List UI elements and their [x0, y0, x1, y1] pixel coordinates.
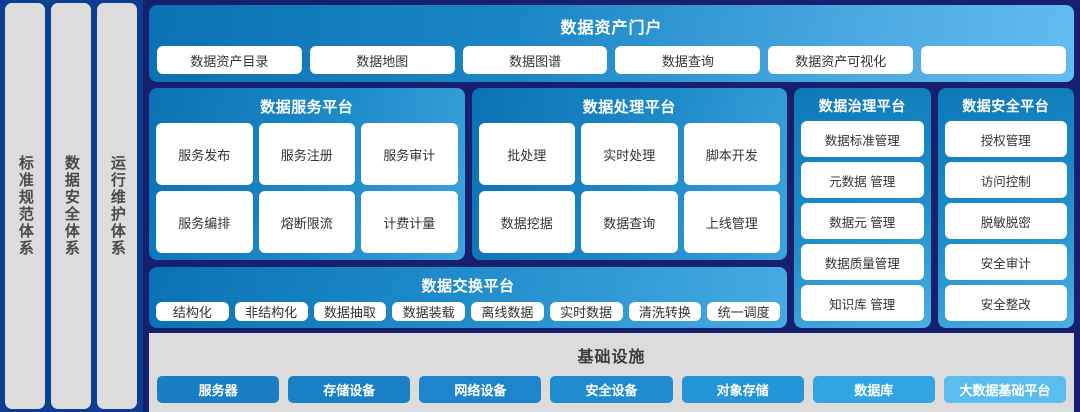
- chip-realtime-data[interactable]: 实时数据: [550, 302, 623, 321]
- portal-button-empty[interactable]: [921, 46, 1066, 74]
- chip-script-development[interactable]: 脚本开发: [684, 123, 781, 185]
- infra-button-server[interactable]: 服务器: [157, 376, 279, 403]
- chip-data-standard-management[interactable]: 数据标准管理: [801, 121, 924, 157]
- platforms-right-group: 数据治理平台 数据标准管理 元数据 管理 数据元 管理 数据质量管理 知识库 管…: [794, 88, 1074, 328]
- chip-offline-data[interactable]: 离线数据: [471, 302, 544, 321]
- portal-panel: 数据资产门户 数据资产目录 数据地图 数据图谱 数据查询 数据资产可视化: [149, 5, 1074, 82]
- chip-security-audit[interactable]: 安全审计: [945, 244, 1068, 280]
- infra-button-object-storage[interactable]: 对象存储: [682, 376, 804, 403]
- portal-button-map[interactable]: 数据地图: [310, 46, 455, 74]
- chip-structured[interactable]: 结构化: [156, 302, 229, 321]
- infrastructure-title: 基础设施: [157, 341, 1066, 376]
- panel-data-security-platform: 数据安全平台 授权管理 访问控制 脱敏脱密 安全审计 安全整改: [938, 88, 1075, 328]
- infra-button-database[interactable]: 数据库: [813, 376, 935, 403]
- sidebar-item-data-security[interactable]: 数据安全体系: [51, 3, 91, 409]
- chip-data-mining[interactable]: 数据挖据: [479, 191, 576, 253]
- chip-unified-scheduling[interactable]: 统一调度: [707, 302, 780, 321]
- panel-item-column: 数据标准管理 元数据 管理 数据元 管理 数据质量管理 知识库 管理: [801, 121, 924, 321]
- chip-data-extraction[interactable]: 数据抽取: [314, 302, 387, 321]
- panel-data-processing-platform: 数据处理平台 批处理 实时处理 脚本开发 数据挖据 数据查询 上线管理: [472, 88, 788, 260]
- panel-item-column: 授权管理 访问控制 脱敏脱密 安全审计 安全整改: [945, 121, 1068, 321]
- panel-item-grid: 服务发布 服务注册 服务审计 服务编排 熔断限流 计费计量: [156, 123, 458, 253]
- infra-button-network-device[interactable]: 网络设备: [419, 376, 541, 403]
- sidebar-item-operations[interactable]: 运行维护体系: [97, 3, 137, 409]
- panel-title: 数据服务平台: [156, 94, 458, 123]
- chip-metadata-management[interactable]: 元数据 管理: [801, 162, 924, 198]
- panel-title: 数据处理平台: [479, 94, 781, 123]
- chip-knowledge-base-management[interactable]: 知识库 管理: [801, 285, 924, 321]
- platforms-top-row: 数据服务平台 服务发布 服务注册 服务审计 服务编排 熔断限流 计费计量 数据处…: [149, 88, 787, 260]
- chip-launch-management[interactable]: 上线管理: [684, 191, 781, 253]
- infra-button-bigdata-platform[interactable]: 大数据基础平台: [944, 376, 1066, 403]
- panel-data-governance-platform: 数据治理平台 数据标准管理 元数据 管理 数据元 管理 数据质量管理 知识库 管…: [794, 88, 931, 328]
- platforms-band: 数据服务平台 服务发布 服务注册 服务审计 服务编排 熔断限流 计费计量 数据处…: [143, 88, 1080, 333]
- panel-data-exchange-platform: 数据交换平台 结构化 非结构化 数据抽取 数据装载 离线数据 实时数据 清洗转换…: [149, 267, 787, 328]
- infra-button-security-device[interactable]: 安全设备: [550, 376, 672, 403]
- sidebar-item-label: 数据安全体系: [63, 155, 79, 257]
- infrastructure-band: 基础设施 服务器 存储设备 网络设备 安全设备 对象存储 数据库 大数据基础平台: [143, 333, 1080, 412]
- sidebar-item-standards[interactable]: 标准规范体系: [5, 3, 45, 409]
- sidebar: 标准规范体系 数据安全体系 运行维护体系: [0, 0, 143, 412]
- chip-service-orchestration[interactable]: 服务编排: [156, 191, 253, 253]
- portal-button-visualization[interactable]: 数据资产可视化: [768, 46, 913, 74]
- chip-service-audit[interactable]: 服务审计: [361, 123, 458, 185]
- platforms-left-group: 数据服务平台 服务发布 服务注册 服务审计 服务编排 熔断限流 计费计量 数据处…: [149, 88, 787, 328]
- sidebar-item-label: 标准规范体系: [17, 155, 33, 257]
- panel-title: 数据交换平台: [156, 273, 780, 302]
- chip-billing-metering[interactable]: 计费计量: [361, 191, 458, 253]
- sidebar-item-label: 运行维护体系: [109, 155, 125, 257]
- chip-data-element-management[interactable]: 数据元 管理: [801, 203, 924, 239]
- chip-service-register[interactable]: 服务注册: [259, 123, 356, 185]
- panel-item-row: 结构化 非结构化 数据抽取 数据装载 离线数据 实时数据 清洗转换 统一调度: [156, 302, 780, 321]
- chip-realtime-processing[interactable]: 实时处理: [581, 123, 678, 185]
- infra-button-storage-device[interactable]: 存储设备: [288, 376, 410, 403]
- chip-security-rectification[interactable]: 安全整改: [945, 285, 1068, 321]
- chip-batch-processing[interactable]: 批处理: [479, 123, 576, 185]
- chip-unstructured[interactable]: 非结构化: [235, 302, 308, 321]
- chip-authorization-management[interactable]: 授权管理: [945, 121, 1068, 157]
- chip-cleansing-transform[interactable]: 清洗转换: [629, 302, 702, 321]
- portal-button-row: 数据资产目录 数据地图 数据图谱 数据查询 数据资产可视化: [157, 46, 1066, 74]
- chip-desensitization[interactable]: 脱敏脱密: [945, 203, 1068, 239]
- main-stack: 数据资产门户 数据资产目录 数据地图 数据图谱 数据查询 数据资产可视化 数据服…: [143, 0, 1080, 412]
- panel-data-service-platform: 数据服务平台 服务发布 服务注册 服务审计 服务编排 熔断限流 计费计量: [149, 88, 465, 260]
- infrastructure-button-row: 服务器 存储设备 网络设备 安全设备 对象存储 数据库 大数据基础平台: [157, 376, 1066, 403]
- panel-title: 数据治理平台: [801, 94, 924, 121]
- portal-title: 数据资产门户: [157, 12, 1066, 46]
- portal-button-query[interactable]: 数据查询: [615, 46, 760, 74]
- chip-data-loading[interactable]: 数据装载: [392, 302, 465, 321]
- chip-access-control[interactable]: 访问控制: [945, 162, 1068, 198]
- portal-band: 数据资产门户 数据资产目录 数据地图 数据图谱 数据查询 数据资产可视化: [143, 0, 1080, 88]
- panel-item-grid: 批处理 实时处理 脚本开发 数据挖据 数据查询 上线管理: [479, 123, 781, 253]
- infrastructure-panel: 基础设施 服务器 存储设备 网络设备 安全设备 对象存储 数据库 大数据基础平台: [149, 333, 1074, 412]
- chip-circuit-breaker[interactable]: 熔断限流: [259, 191, 356, 253]
- portal-button-graph[interactable]: 数据图谱: [463, 46, 608, 74]
- chip-data-quality-management[interactable]: 数据质量管理: [801, 244, 924, 280]
- portal-button-catalog[interactable]: 数据资产目录: [157, 46, 302, 74]
- panel-title: 数据安全平台: [945, 94, 1068, 121]
- chip-data-query[interactable]: 数据查询: [581, 191, 678, 253]
- architecture-diagram: 标准规范体系 数据安全体系 运行维护体系 数据资产门户 数据资产目录 数据地图 …: [0, 0, 1080, 412]
- chip-service-publish[interactable]: 服务发布: [156, 123, 253, 185]
